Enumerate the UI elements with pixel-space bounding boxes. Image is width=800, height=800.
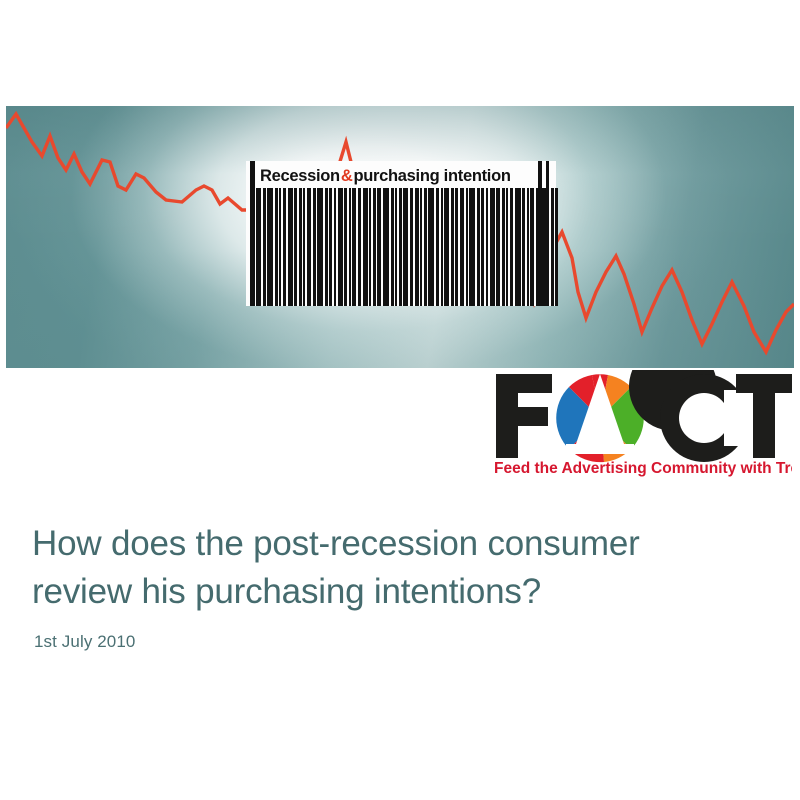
barcode-bar: [307, 188, 311, 306]
barcode-bar: [399, 188, 402, 306]
barcode-bar: [541, 188, 546, 306]
barcode-bar: [469, 188, 475, 306]
barcode-bar: [460, 188, 464, 306]
barcode-bar: [395, 188, 397, 306]
barcode-bar: [410, 188, 413, 306]
barcode-bar: [486, 188, 488, 306]
title-block: How does the post-recession consumer rev…: [32, 520, 762, 652]
barcode-bar: [455, 188, 458, 306]
barcode-label: Recession & purchasing intention: [260, 163, 511, 189]
barcode-bar: [329, 188, 332, 306]
barcode-bar: [338, 188, 343, 306]
barcode-bar: [424, 188, 427, 306]
barcode-label-suffix: purchasing intention: [353, 167, 510, 186]
barcode-bar: [391, 188, 394, 306]
barcode-bar: [527, 188, 529, 306]
barcode-bar: [547, 188, 549, 306]
barcode-bar: [377, 188, 381, 306]
barcode-bars: [246, 188, 556, 306]
barcode-bar: [267, 188, 273, 306]
logo-tagline: Feed the Advertising Community with Tren…: [494, 460, 792, 477]
barcode-bar: [349, 188, 351, 306]
barcode-bar: [313, 188, 316, 306]
barcode-bar: [299, 188, 302, 306]
barcode-bar: [551, 188, 554, 306]
barcode-bar: [325, 188, 328, 306]
barcode-bar: [515, 188, 521, 306]
barcode-bar: [303, 188, 305, 306]
barcode-bar: [451, 188, 454, 306]
barcode-bar: [536, 188, 539, 306]
barcode-bar: [263, 188, 266, 306]
barcode-bar: [334, 188, 336, 306]
barcode-bar: [428, 188, 434, 306]
barcode-bar: [420, 188, 422, 306]
presentation-slide: Recession & purchasing intention: [0, 0, 800, 800]
barcode-bar: [496, 188, 500, 306]
fact-logo: Feed the Advertising Community with Tren…: [492, 370, 792, 478]
barcode-bar: [506, 188, 508, 306]
barcode-bar: [256, 188, 261, 306]
barcode-bar: [444, 188, 449, 306]
page-title: How does the post-recession consumer rev…: [32, 520, 762, 616]
barcode-bar: [415, 188, 419, 306]
barcode-bar: [279, 188, 281, 306]
barcode-bar: [490, 188, 495, 306]
page-title-line-2: review his purchasing intentions?: [32, 572, 541, 611]
barcode-bar: [522, 188, 525, 306]
barcode-label-ampersand: &: [340, 167, 354, 186]
barcode-bar: [283, 188, 286, 306]
barcode-bar: [373, 188, 376, 306]
barcode-bar: [502, 188, 505, 306]
barcode-bar: [288, 188, 293, 306]
barcode-bar: [530, 188, 534, 306]
hero-banner: Recession & purchasing intention: [6, 106, 794, 368]
barcode-bar: [383, 188, 389, 306]
barcode-bar: [352, 188, 356, 306]
barcode-bar: [275, 188, 278, 306]
barcode-bar: [477, 188, 480, 306]
barcode-bar: [510, 188, 513, 306]
barcode-bar: [369, 188, 371, 306]
barcode-bar: [363, 188, 368, 306]
slide-date: 1st July 2010: [34, 632, 762, 652]
barcode-bar: [317, 188, 323, 306]
barcode-label-prefix: Recession: [260, 167, 340, 186]
barcode-bar: [403, 188, 408, 306]
barcode-bar: [344, 188, 347, 306]
barcode-graphic: Recession & purchasing intention: [246, 161, 556, 306]
fact-logo-svg: Feed the Advertising Community with Tren…: [492, 370, 792, 478]
barcode-bar: [466, 188, 468, 306]
page-title-line-1: How does the post-recession consumer: [32, 524, 640, 563]
barcode-bar: [436, 188, 439, 306]
barcode-bar: [358, 188, 361, 306]
barcode-bar: [441, 188, 443, 306]
barcode-bar: [481, 188, 484, 306]
barcode-bar: [294, 188, 297, 306]
barcode-bar: [555, 188, 558, 306]
logo-letter-f: [496, 374, 552, 458]
